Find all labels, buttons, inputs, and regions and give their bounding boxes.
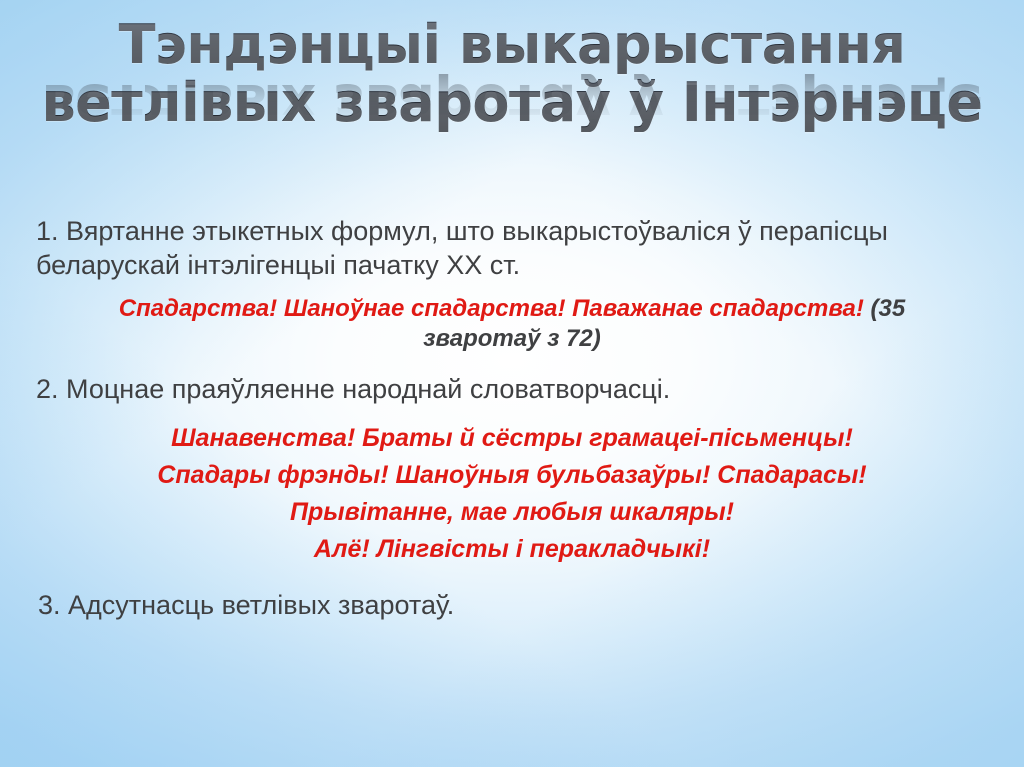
title-reflection-line-2: ветлівых зваротаў ў Інтэрнэце [0, 74, 1024, 132]
slide-body: 1. Вяртанне этыкетных формул, што выкары… [0, 214, 1024, 622]
spacer-2 [0, 406, 1024, 420]
quote-block-2: Шанавенства! Браты й сёстры грамацеі-піс… [0, 420, 1024, 568]
quote-2-line-2: Спадары фрэнды! Шаноўныя бульбазаўры! Сп… [36, 457, 988, 494]
slide-content: Тэндэнцыі выкарыстання ветлівых зваротаў… [0, 0, 1024, 767]
list-item-1: 1. Вяртанне этыкетных формул, што выкары… [0, 214, 1024, 282]
quote-2-line-3: Прывітанне, мае любыя шкаляры! [36, 494, 988, 531]
spacer-1 [0, 354, 1024, 372]
quote-2-line-1: Шанавенства! Браты й сёстры грамацеі-піс… [36, 420, 988, 457]
slide-canvas: Тэндэнцыі выкарыстання ветлівых зваротаў… [0, 0, 1024, 767]
title-line-1: Тэндэнцыі выкарыстання [0, 16, 1024, 74]
quote-1-red-text: Спадарства! Шаноўнае спадарства! Паважан… [119, 295, 864, 322]
quote-2-line-4: Алё! Лінгвісты і перакладчыкі! [36, 531, 988, 568]
quote-block-1: Спадарства! Шаноўнае спадарства! Паважан… [0, 284, 1024, 354]
list-item-2: 2. Моцнае праяўляенне народнай словатвор… [0, 372, 1024, 406]
list-item-3: 3. Адсутнасць ветлівых зваротаў. [0, 588, 1024, 622]
spacer-3 [0, 568, 1024, 588]
slide-title: Тэндэнцыі выкарыстання ветлівых зваротаў… [0, 16, 1024, 190]
